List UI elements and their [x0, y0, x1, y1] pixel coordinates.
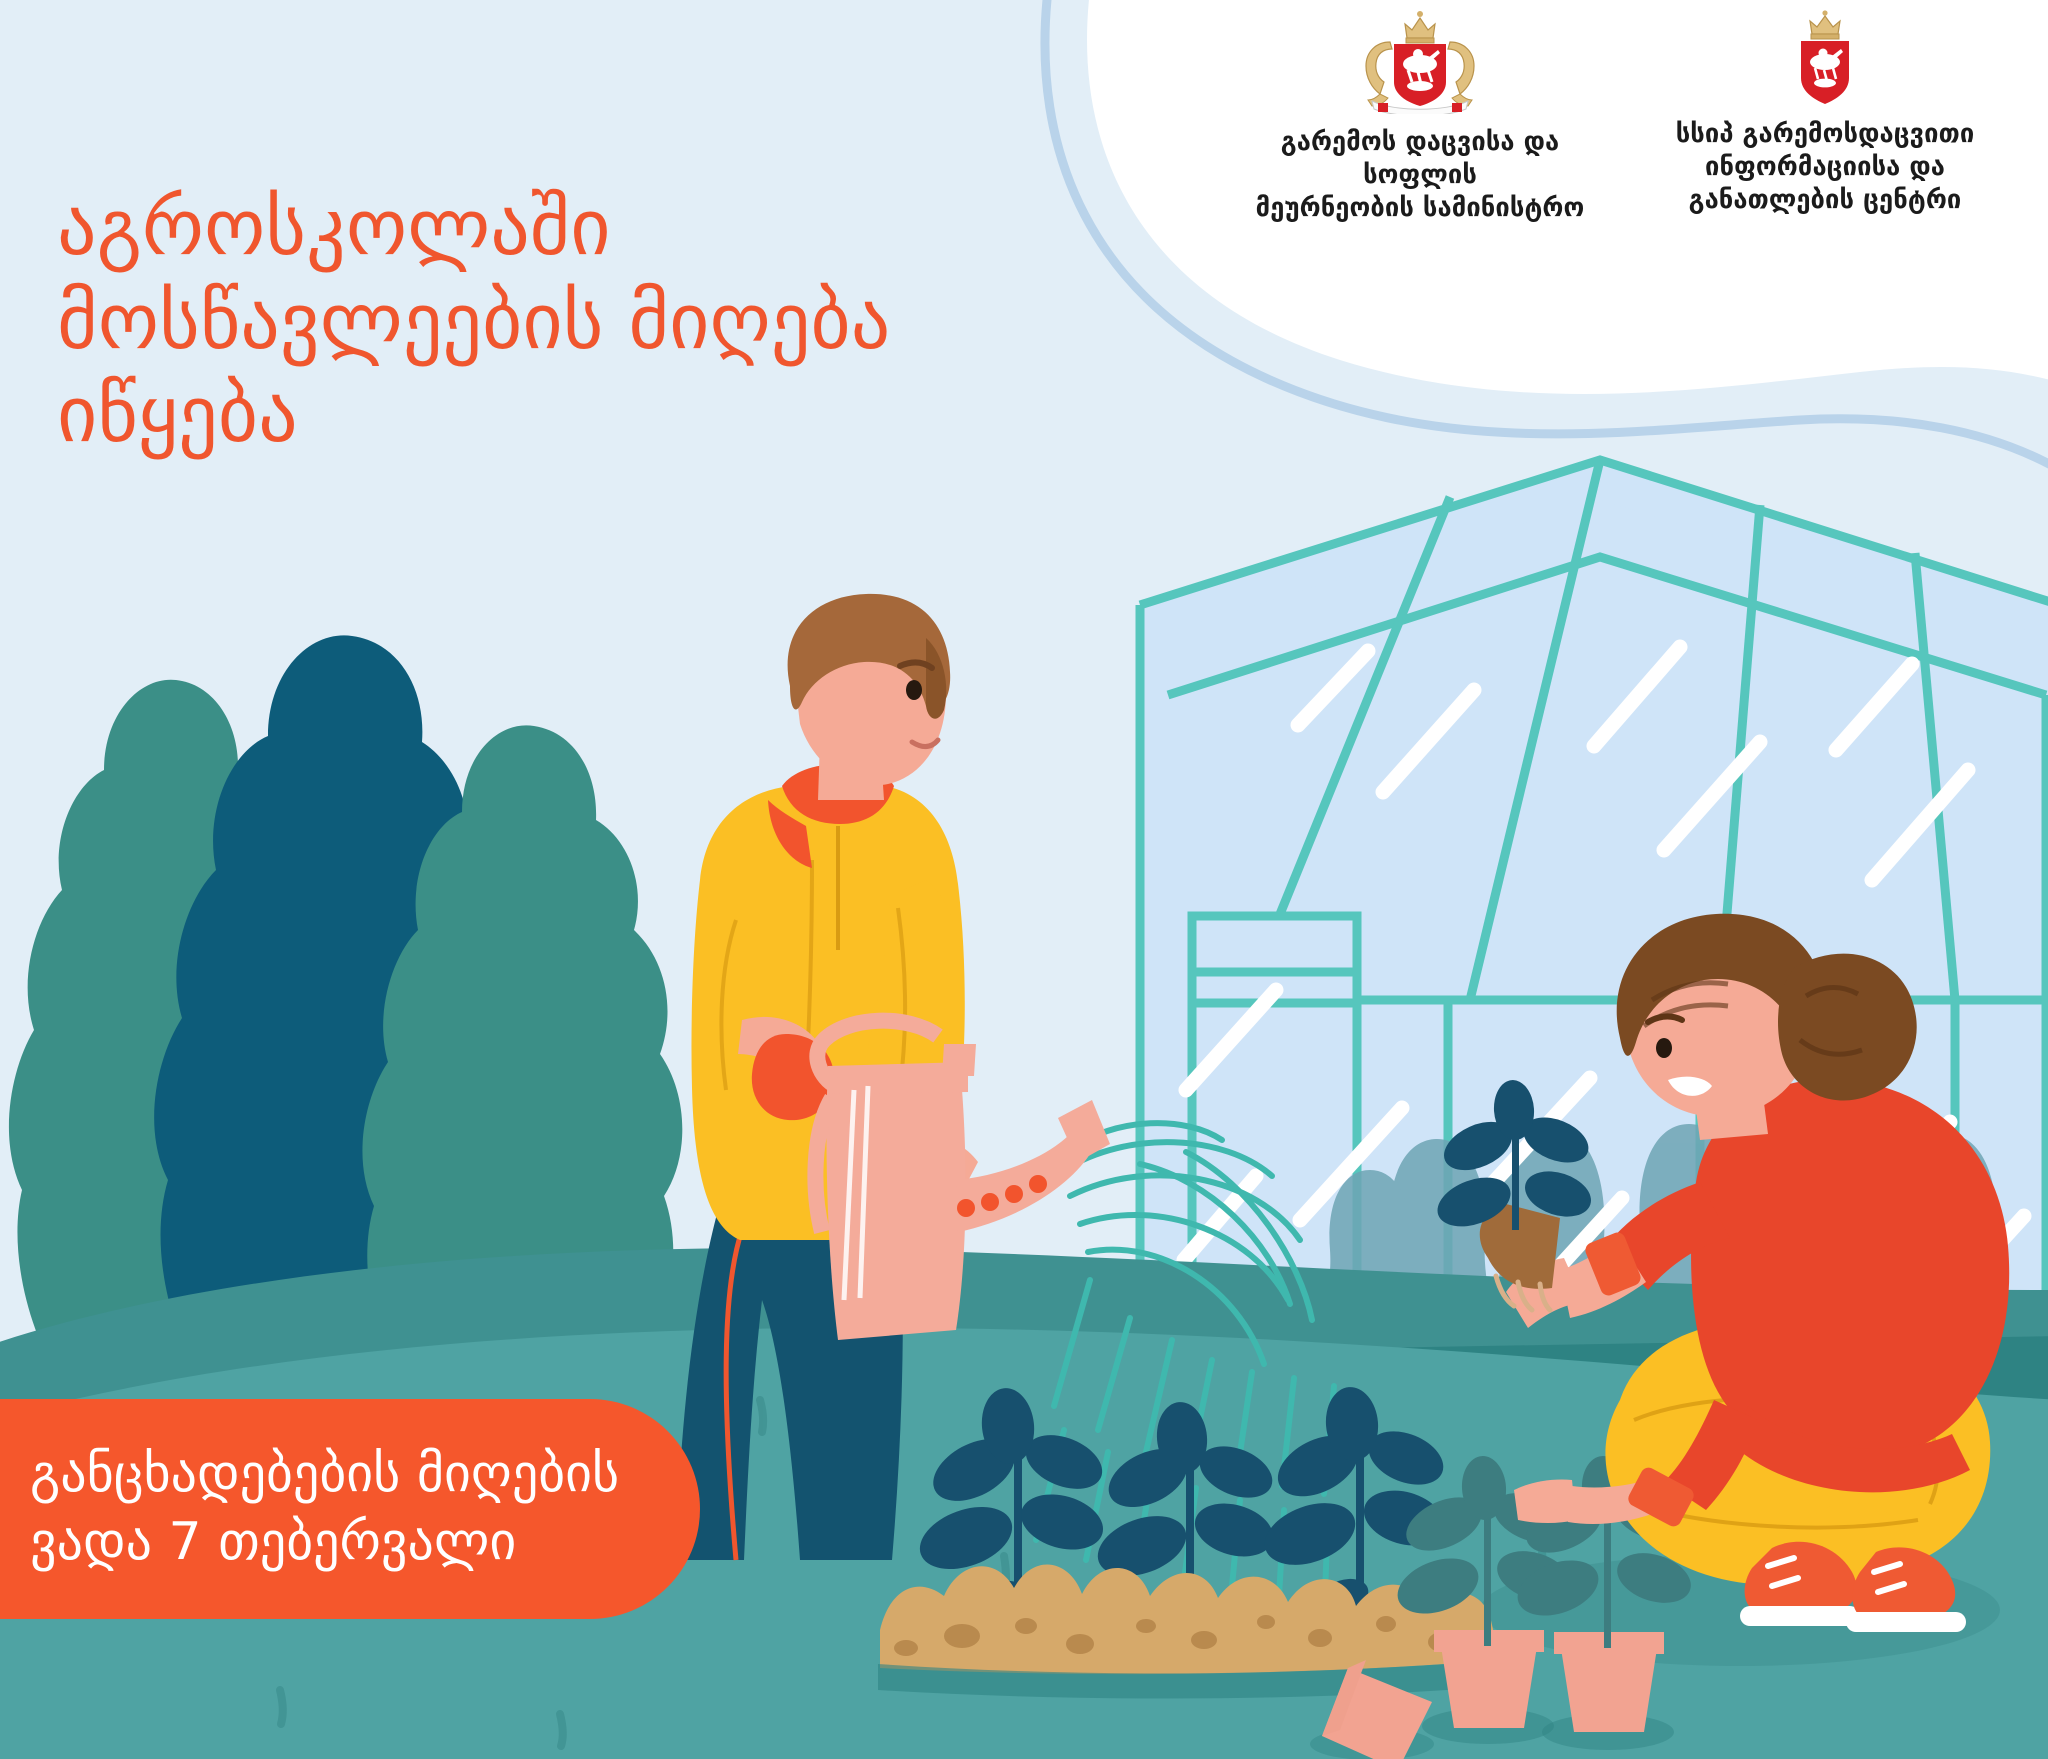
poster-root: გარემოს დაცვისა და სოფლის მეურნეობის სამ… — [0, 0, 2048, 1759]
crown — [1405, 11, 1435, 43]
crown — [1810, 10, 1840, 39]
georgia-shield-crest-icon — [1779, 8, 1871, 108]
logo-center-caption: სსიპ გარემოსდაცვითი ინფორმაციისა და განა… — [1660, 118, 1990, 217]
woman-hand-lower — [1514, 1479, 1576, 1523]
logo-ministry: გარემოს დაცვისა და სოფლის მეურნეობის სამ… — [1255, 8, 1585, 225]
page-title: აგროსკოლაში მოსწავლეების მიღება იწყება — [57, 182, 1157, 463]
deadline-banner-text: განცხადებების მიღების ვადა 7 თებერვალი — [0, 1441, 645, 1576]
deadline-banner: განცხადებების მიღების ვადა 7 თებერვალი — [0, 1399, 700, 1619]
seedling-held — [1431, 1079, 1597, 1236]
georgia-coat-of-arms-icon — [1350, 8, 1490, 114]
lion-right — [1448, 42, 1474, 94]
woman-eye — [1656, 1038, 1672, 1058]
logo-center: სსიპ გარემოსდაცვითი ინფორმაციისა და განა… — [1660, 8, 1990, 217]
woman-ponytail — [1778, 954, 1917, 1101]
woman-planting — [1431, 914, 2009, 1632]
lion-left — [1366, 42, 1392, 94]
logo-ministry-caption: გარემოს დაცვისა და სოფლის მეურნეობის სამ… — [1255, 126, 1585, 225]
